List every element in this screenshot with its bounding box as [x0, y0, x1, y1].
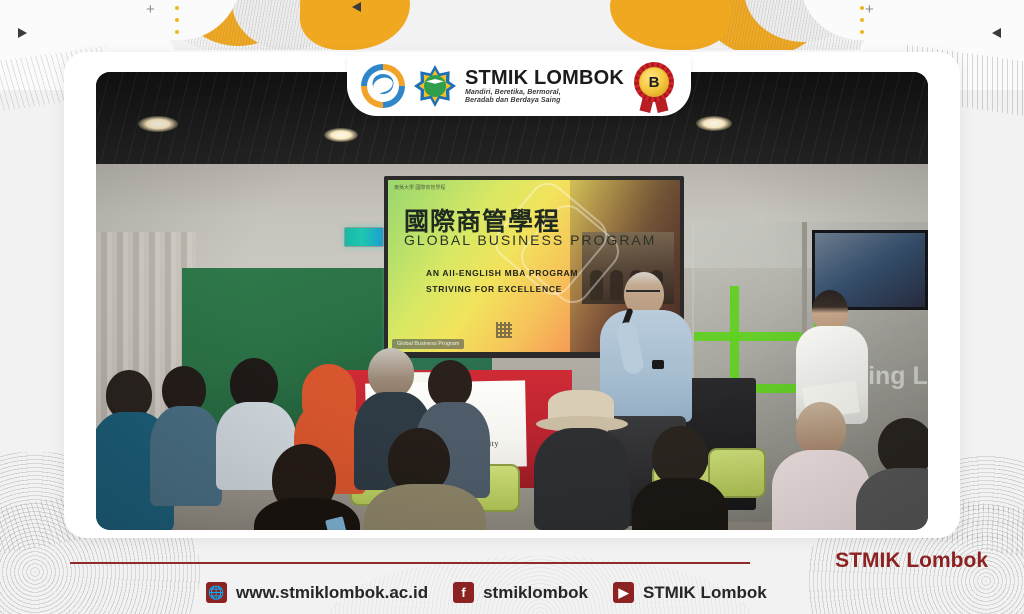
triangle-marker-center — [352, 2, 361, 12]
orange-blob-top-right — [700, 0, 828, 56]
grey-blob-top-left — [232, 0, 342, 50]
wave-top-right — [800, 0, 1024, 40]
youtube-label[interactable]: STMIK Lombok — [643, 583, 767, 603]
orange-blob-top-left-2 — [300, 0, 410, 50]
triangle-marker-left — [18, 28, 27, 38]
dot-accent — [175, 18, 179, 22]
diktisaintek-berdampak-icon — [361, 64, 405, 108]
brand-tagline-line1: Mandiri, Beretika, Bermoral, — [465, 89, 622, 96]
brand-tagline-line2: Beradab dan Berdaya Saing — [465, 97, 622, 104]
accreditation-grade: B — [639, 67, 669, 97]
wave-top-left — [0, 0, 240, 40]
globe-icon[interactable]: 🌐 — [206, 582, 227, 603]
footer-divider — [70, 562, 750, 564]
orange-blob-top-right-2 — [610, 0, 730, 50]
plus-marker-left: + — [146, 2, 155, 17]
stmik-lombok-logo-icon — [414, 65, 456, 107]
facebook-icon[interactable]: f — [453, 582, 474, 603]
dot-accent — [860, 30, 864, 34]
grey-blob-top-right — [744, 0, 864, 42]
accreditation-badge-icon: B — [631, 60, 677, 112]
poster-canvas: + + 22 — [0, 0, 1024, 614]
hatch-top-left — [160, 0, 390, 60]
logo-header-pill: STMIK LOMBOK Mandiri, Beretika, Bermoral… — [347, 56, 691, 116]
event-photo: 22 東吳大學 國際商管學程 國際商管學程 GLOBAL BUSINESS PR… — [96, 72, 928, 530]
dot-accent — [860, 18, 864, 22]
footer-brand: STMIK Lombok — [835, 549, 988, 573]
dot-accent — [175, 6, 179, 10]
brand-title: STMIK LOMBOK — [465, 68, 622, 89]
dot-accent — [860, 6, 864, 10]
brand-text-block: STMIK LOMBOK Mandiri, Beretika, Bermoral… — [465, 68, 622, 104]
website-label[interactable]: www.stmiklombok.ac.id — [236, 583, 428, 603]
plus-marker-right: + — [865, 2, 874, 17]
youtube-icon[interactable]: ▶ — [613, 582, 634, 603]
orange-blob-top-left — [178, 0, 298, 46]
footer: STMIK Lombok 🌐 www.stmiklombok.ac.id f s… — [0, 538, 1024, 614]
photo-vignette — [96, 72, 928, 530]
facebook-label[interactable]: stmiklombok — [483, 583, 588, 603]
triangle-marker-right — [992, 28, 1001, 38]
footer-contact-row: 🌐 www.stmiklombok.ac.id f stmiklombok ▶ … — [206, 582, 767, 603]
dot-accent — [175, 30, 179, 34]
